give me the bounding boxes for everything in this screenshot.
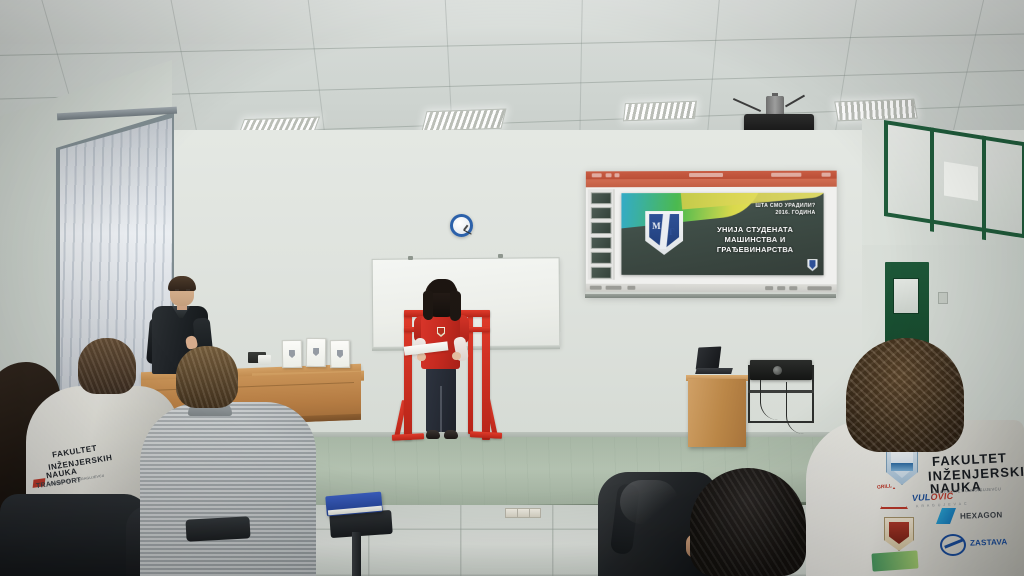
account-label[interactable] xyxy=(771,173,801,177)
laptop-screen[interactable] xyxy=(696,346,722,369)
undo-icon[interactable] xyxy=(615,173,620,177)
close-icon[interactable] xyxy=(822,173,831,177)
language-label xyxy=(606,286,622,290)
ceiling-light-fixture xyxy=(422,109,507,132)
door-window xyxy=(893,278,919,314)
host-hair xyxy=(168,276,196,291)
audience-left-hair-texture xyxy=(78,338,136,394)
chair-armrest[interactable] xyxy=(185,516,250,541)
whiteboard-clip xyxy=(408,256,413,260)
slide-heading-line-2: 2016. ГОДИНА xyxy=(775,210,815,216)
slide-thumbnail[interactable] xyxy=(591,252,612,264)
certificate-card xyxy=(306,338,327,367)
host-eye xyxy=(186,289,190,291)
slide-main-line-2: МАШИНСТВА И xyxy=(691,235,819,244)
presenter-hair-side xyxy=(450,291,461,321)
crest-letter-right: Г xyxy=(669,227,675,237)
presenter-hand xyxy=(417,353,426,361)
slide-thumbnail[interactable] xyxy=(591,222,612,234)
slide-thumbnail[interactable] xyxy=(591,207,612,219)
certificate-crest-icon xyxy=(313,348,319,356)
certificate-card xyxy=(330,340,350,368)
projection-screen: ШТА СМО УРАДИЛИ? 2016. ГОДИНА М Г УНИЈА … xyxy=(586,171,837,297)
notes-icon[interactable] xyxy=(627,286,635,290)
presenter-hand xyxy=(452,352,461,360)
certificate-card xyxy=(282,340,302,368)
quick-access-icon[interactable] xyxy=(592,173,602,177)
certificate-crest-icon xyxy=(289,350,295,358)
save-icon[interactable] xyxy=(606,173,612,177)
slide-heading-line-1: ШТА СМО УРАДИЛИ? xyxy=(755,203,815,209)
chair-post xyxy=(352,532,361,576)
audience-member-left2-body xyxy=(140,402,316,576)
presenter-shoe xyxy=(426,430,440,439)
zoom-slider[interactable] xyxy=(807,286,831,290)
av-cable xyxy=(786,382,811,434)
window-mullion xyxy=(930,127,934,232)
av-cabinet xyxy=(688,379,746,447)
audience-left2-hair-texture xyxy=(176,346,238,408)
ceiling-light-fixture xyxy=(623,101,697,122)
slide-thumbnail[interactable] xyxy=(591,237,612,249)
whiteboard-clip xyxy=(498,254,503,258)
view-normal-icon[interactable] xyxy=(765,286,773,290)
presenter-hair-side xyxy=(423,291,433,320)
slide-main-line-1: УНИЈА СТУДЕНАТА xyxy=(691,225,819,234)
view-sorter-icon[interactable] xyxy=(777,286,785,290)
floor-vent-slat xyxy=(505,508,518,518)
window-mullion xyxy=(982,136,986,241)
document-title xyxy=(689,173,723,177)
presenter-leg-seam xyxy=(440,386,442,432)
crest-letter-left: М xyxy=(652,221,660,231)
certificate-crest-icon xyxy=(337,350,343,358)
light-switch[interactable] xyxy=(938,292,948,304)
sponsor-hexagon-label: HEXAGON xyxy=(960,510,1003,520)
cup xyxy=(258,355,271,365)
backpack-highlight xyxy=(620,480,678,524)
presenter-shoe xyxy=(444,430,458,439)
floor-vent-slat xyxy=(529,508,542,518)
slide-number-label xyxy=(590,286,602,290)
wall-clock xyxy=(450,214,473,237)
powerpoint-statusbar xyxy=(586,284,837,293)
lecture-hall-photo: ШТА СМО УРАДИЛИ? 2016. ГОДИНА М Г УНИЈА … xyxy=(0,0,1024,576)
university-crest-wave xyxy=(891,463,913,471)
laptop-keyboard[interactable] xyxy=(695,368,733,374)
host-eye xyxy=(175,289,179,291)
audience-right-hair-texture xyxy=(846,338,964,452)
amplifier-knob-icon[interactable] xyxy=(773,366,782,375)
slide-thumbnail[interactable] xyxy=(591,192,612,204)
window-glare xyxy=(944,162,978,201)
slideshow-icon[interactable] xyxy=(789,286,797,290)
audience-center-hair-texture xyxy=(690,468,806,576)
shirt-green-band xyxy=(871,550,918,571)
current-slide: ШТА СМО УРАДИЛИ? 2016. ГОДИНА М Г УНИЈА … xyxy=(621,193,823,275)
screen-bottom-bar xyxy=(585,294,836,298)
slide-thumbnail[interactable] xyxy=(591,267,612,279)
sponsor-zastava-label: ZASTAVA xyxy=(970,537,1008,547)
slide-thumbnail-pane[interactable] xyxy=(588,189,615,280)
ceiling-light-fixture xyxy=(834,99,917,122)
slide-main-line-3: ГРАЂЕВИНАРСТВА xyxy=(691,245,819,254)
clock-minute-hand xyxy=(463,230,471,235)
